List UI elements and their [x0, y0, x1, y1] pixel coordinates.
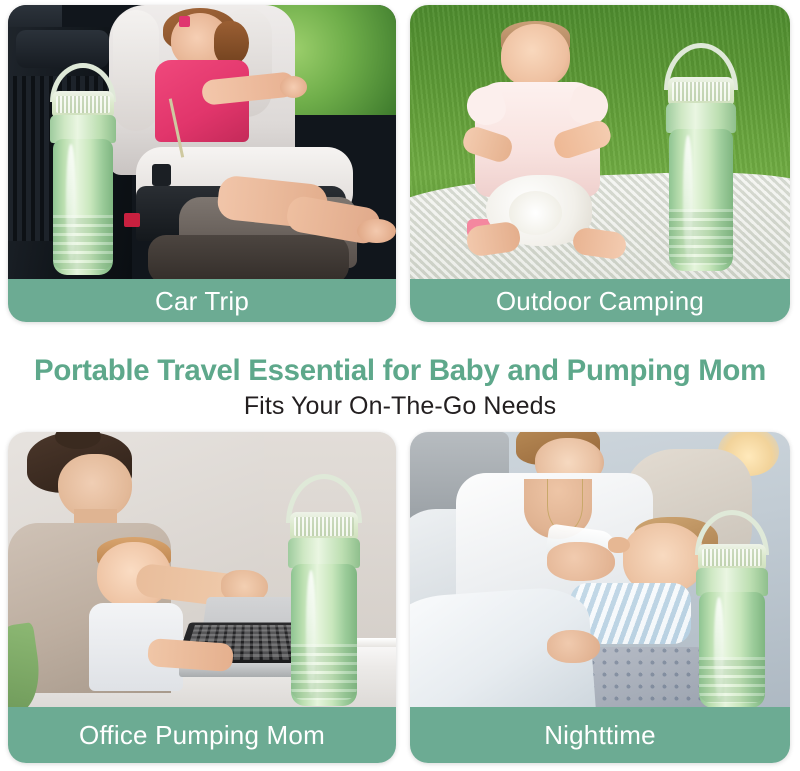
- product-bottle: [658, 43, 744, 271]
- caption-label: Nighttime: [544, 722, 656, 748]
- page-subtitle: Fits Your On-The-Go Needs: [0, 392, 800, 421]
- bottle-cap: [290, 512, 358, 540]
- mother-hand-holding-bottle: [547, 542, 615, 581]
- panel-outdoor-camping: Outdoor Camping: [410, 5, 790, 322]
- bottle-body: [53, 139, 113, 275]
- product-bottle: [688, 510, 776, 707]
- bottle-body: [291, 564, 357, 706]
- bottle-ribs: [699, 657, 765, 703]
- scene-bedroom-feeding: [410, 432, 790, 707]
- panel-nighttime: Nighttime: [410, 432, 790, 763]
- photo-nighttime: [410, 432, 790, 707]
- panel-car-trip: Car Trip: [8, 5, 396, 322]
- bottle-ribs: [291, 644, 357, 701]
- bottle-body: [699, 592, 765, 707]
- caption-office-pumping-mom: Office Pumping Mom: [8, 707, 396, 763]
- bottle-highlight: [306, 570, 317, 695]
- bottle-cap: [698, 544, 766, 570]
- toddler-hair-clip: [179, 16, 191, 27]
- bottle-ribs: [669, 209, 733, 266]
- caption-nighttime: Nighttime: [410, 707, 790, 763]
- bottle-cap: [52, 91, 114, 117]
- caption-outdoor-camping: Outdoor Camping: [410, 279, 790, 322]
- bottle-ribs: [53, 215, 113, 269]
- toddler-foot: [357, 219, 396, 244]
- seat-belt-red-clip: [124, 213, 140, 227]
- caption-label: Outdoor Camping: [496, 288, 704, 314]
- baby-head: [501, 24, 569, 87]
- product-bottle: [280, 474, 368, 706]
- scene-car-interior: [8, 5, 396, 279]
- photo-office-pumping-mom: [8, 432, 396, 707]
- scene-office-desk: [8, 432, 396, 707]
- promo-image-board: Car Trip: [0, 0, 800, 771]
- bottle-body: [669, 129, 733, 271]
- toddler-hand: [280, 76, 307, 98]
- scene-grass-picnic: [410, 5, 790, 279]
- toddler-hair-side: [214, 21, 249, 65]
- panel-office-pumping-mom: Office Pumping Mom: [8, 432, 396, 763]
- bottle-highlight: [66, 144, 76, 264]
- bottle-cap: [668, 77, 734, 105]
- bottle-highlight: [714, 597, 725, 699]
- caption-label: Car Trip: [155, 288, 249, 314]
- caption-label: Office Pumping Mom: [79, 722, 325, 748]
- mother-supporting-hand: [547, 630, 600, 663]
- seat-belt-buckle: [152, 164, 171, 186]
- baby-arm: [147, 638, 234, 671]
- caption-car-trip: Car Trip: [8, 279, 396, 322]
- car-seat-bench-lower: [148, 235, 350, 279]
- product-bottle: [46, 63, 120, 275]
- photo-outdoor-camping: [410, 5, 790, 279]
- photo-car-trip: [8, 5, 396, 279]
- page-title: Portable Travel Essential for Baby and P…: [8, 354, 792, 388]
